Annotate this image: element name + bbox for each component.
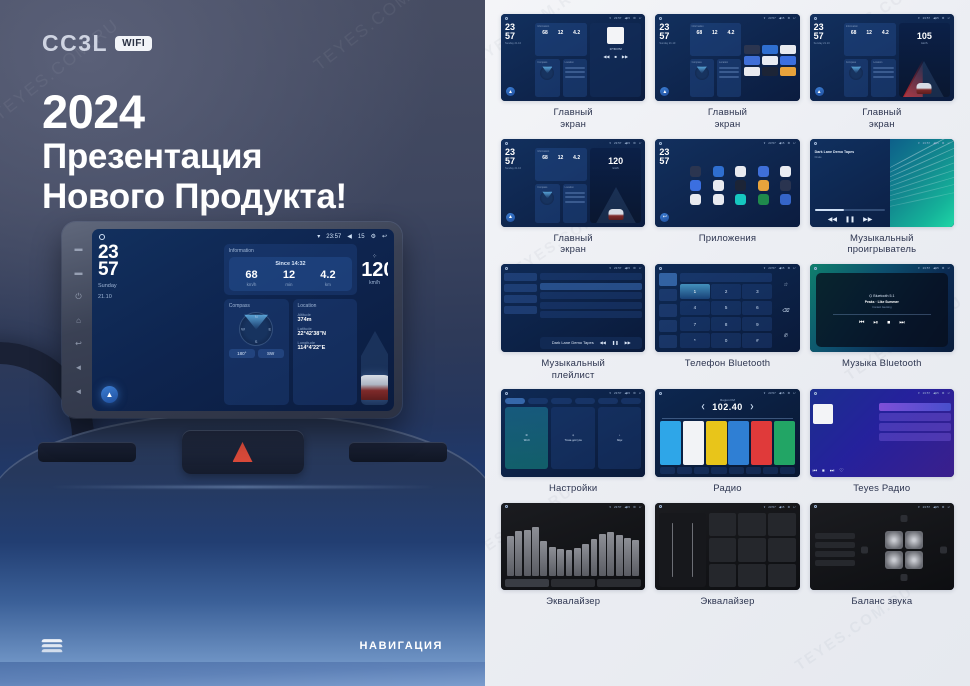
home-button[interactable]: ⌂ [74, 316, 83, 325]
app-tile[interactable] [753, 180, 773, 191]
back-arrow-icon: ↩ [793, 141, 796, 145]
app-icon [735, 166, 746, 177]
toolbar-button[interactable] [711, 467, 726, 474]
toolbar-button[interactable] [729, 467, 744, 474]
dialpad-key[interactable]: 1 [680, 284, 710, 299]
settings-tab[interactable] [505, 398, 525, 404]
screenshot-thumbnail[interactable]: ▾ 23:57 ◀15 ⚙ ↩ ⌬ Bluetooth 5.1 Peaks · … [810, 264, 954, 351]
screenshot-thumbnail[interactable]: ▾ 23:57 ◀15 ⚙ ↩ Region FM ❮ 102.40 ❯ [655, 389, 799, 476]
home-indicator-icon [505, 17, 508, 20]
app-tile[interactable] [753, 194, 773, 205]
mini-stat: 12 [866, 30, 872, 36]
speedometer: ⁘ 120 km/h [361, 244, 388, 286]
mini-location-card[interactable]: Location [717, 59, 741, 97]
balance-option[interactable] [815, 533, 855, 539]
dialpad-key[interactable]: 9 [742, 317, 772, 332]
speaker-grid[interactable] [885, 531, 923, 569]
app-icon[interactable] [780, 56, 796, 65]
app-tile[interactable] [708, 180, 728, 191]
next-icon[interactable]: ⏭ [899, 320, 904, 327]
toolbar-button[interactable] [763, 467, 778, 474]
next-icon[interactable]: ⏭ [830, 468, 835, 474]
station-row[interactable] [879, 423, 951, 431]
balance-options[interactable] [815, 513, 855, 587]
sidebar-icon[interactable] [659, 304, 677, 316]
pause-icon[interactable]: ❚❚ [612, 340, 619, 345]
dialed-number-field[interactable] [680, 273, 772, 282]
balance-pad[interactable] [859, 513, 949, 587]
mini-compass-card[interactable]: Compass [535, 59, 559, 97]
app-icon[interactable] [744, 67, 760, 76]
settings-tab[interactable] [575, 398, 595, 404]
screenshot-cell[interactable]: ▾ 23:57 ◀15 ⚙ ↩ Эквалайзер [655, 503, 799, 608]
dialpad-key[interactable]: 5 [711, 301, 741, 316]
track-list[interactable]: Dark Lane Demo Tapes ◀◀ ❚❚ ▶▶ [540, 273, 642, 348]
screenshot-thumbnail[interactable]: ▾ 23:57 ◀15 ⚙ ↩ 23 57 Sunday 21.10 ▲ Inf… [655, 14, 799, 101]
preset-button[interactable] [709, 564, 737, 587]
screenshot-thumbnail[interactable]: ▾ 23:57 ◀15 ⚙ ↩ [655, 503, 799, 590]
dialpad-key[interactable]: 3 [742, 284, 772, 299]
eq-slider[interactable] [515, 531, 522, 576]
toolbar-button[interactable] [746, 467, 761, 474]
screenshot-thumbnail[interactable]: ▾ 23:57 ◀15 ⚙ ↩ [501, 503, 645, 590]
car-3d-model [361, 375, 388, 400]
screenshot-cell[interactable]: ▾ 23:57 ◀15 ⚙ ↩ ⏮ ⏹ ⏭ ♡ Teyes Радио [810, 389, 954, 494]
compass-direction: SW [258, 349, 284, 358]
gear-icon: ⚙ [942, 141, 945, 145]
app-icon[interactable] [762, 67, 778, 76]
preset-button[interactable] [738, 513, 766, 536]
mini-information-card[interactable]: Information 68124.2 [535, 23, 587, 56]
eq-slider[interactable] [599, 534, 606, 577]
mini-compass-card[interactable]: Compass [844, 59, 868, 97]
app-tile[interactable] [686, 166, 706, 177]
eq-tab[interactable] [551, 579, 595, 587]
screenshot-caption: Главныйэкран [862, 107, 901, 131]
mini-compass-card[interactable]: Compass [690, 59, 714, 97]
mic-button[interactable]: ◄ [74, 387, 83, 396]
sidebar-item[interactable] [504, 306, 537, 314]
screenshot-cell[interactable]: ▾ 23:57 ◀15 ⚙ ↩ 23 57 Sunday 21.10 ▲ Inf… [810, 14, 954, 131]
hazard-lights-icon[interactable] [233, 442, 253, 462]
settings-card[interactable]: ⌘Wi-Fi [505, 407, 548, 468]
preset-button[interactable] [709, 538, 737, 561]
media-controls[interactable]: ◀◀■▶▶ [603, 54, 628, 59]
sidebar-item[interactable] [504, 273, 537, 281]
station-row[interactable] [879, 433, 951, 441]
app-drawer-grid[interactable] [686, 148, 796, 223]
mini-driving-view[interactable]: 120km/h [590, 148, 641, 222]
balance-front-button[interactable] [900, 515, 907, 522]
mini-location-card[interactable]: Location [563, 59, 587, 97]
gear-icon: ⚙ [633, 266, 636, 270]
preset-button[interactable] [768, 564, 796, 587]
prev-icon[interactable]: ◀◀ [603, 54, 609, 59]
mini-stat: 12 [558, 155, 564, 161]
mini-music-panel[interactable]: 07:50 PM ◀◀■▶▶ [590, 23, 641, 97]
gear-icon[interactable]: ⚙ [371, 233, 376, 240]
prev-icon[interactable]: ◀◀ [600, 340, 606, 345]
eq-slider[interactable] [582, 544, 589, 576]
toolbar-button[interactable] [677, 467, 692, 474]
screenshot-cell[interactable]: ▾ 23:57 ◀15 ⚙ ↩ 23 57 Sunday 21.10 ▲ Inf… [655, 14, 799, 131]
app-tile[interactable] [730, 194, 750, 205]
mini-driving-view[interactable]: 105km/h [899, 23, 950, 97]
screenshot-thumbnail[interactable]: ▾ 23:57 ◀15 ⚙ ↩ Dark Lane Demo Tapes Dra… [810, 139, 954, 226]
preset-button[interactable] [709, 513, 737, 536]
volume-icon: ◀15 [779, 505, 785, 509]
stat-distance-unit: km [320, 282, 335, 287]
mini-widgets-column: Information 68124.2 Compass Location [690, 23, 742, 97]
track-row[interactable] [540, 273, 642, 280]
station-preset[interactable] [683, 421, 704, 464]
station-preset[interactable] [751, 421, 772, 464]
navigation-arrow-icon[interactable]: ▲ [506, 213, 515, 222]
toolbar-button[interactable] [660, 467, 675, 474]
mini-widgets-column: Information 68124.2 Compass Location [844, 23, 896, 97]
station-preset[interactable] [660, 421, 681, 464]
fader-group[interactable] [659, 513, 705, 587]
mini-stat: 4.2 [573, 30, 580, 36]
settings-card[interactable]: ⎈Точка доступа [551, 407, 594, 468]
app-tile[interactable] [775, 194, 795, 205]
dialpad-key[interactable]: 7 [680, 317, 710, 332]
app-tile[interactable] [686, 194, 706, 205]
track-row[interactable] [540, 283, 642, 290]
home-indicator-icon [505, 267, 508, 270]
fader[interactable] [692, 523, 694, 576]
location-card[interactable]: Location Altitude 374m Latitude 22°42'38… [293, 299, 358, 405]
track-row[interactable] [540, 302, 642, 309]
preset-button[interactable] [768, 513, 796, 536]
next-station-icon[interactable]: ❯ [750, 404, 754, 410]
screenshot-thumbnail[interactable]: ▾ 23:57 ◀15 ⚙ ↩ 23 57 Sunday 21.10 ▲ Inf… [501, 139, 645, 226]
app-icon [758, 180, 769, 191]
player-controls[interactable]: ◀◀ ❚❚ ▶▶ [815, 216, 886, 223]
settings-icon: ⎈ [572, 434, 574, 437]
settings-tab[interactable] [528, 398, 548, 404]
screenshot-cell[interactable]: ▾ 23:57 ◀15 ⚙ ↩ 23 57 Sunday 21.10 ▲ Inf… [501, 14, 645, 131]
screenshot-grid-panel: TEYES.COM.RUTEYES.COM.RUTEYES.COM.RUTEYE… [485, 0, 970, 686]
fader[interactable] [672, 523, 674, 576]
mini-equalizer-screen[interactable] [501, 503, 645, 590]
eq-slider[interactable] [574, 548, 581, 576]
eq-tab[interactable] [505, 579, 549, 587]
app-icon[interactable] [780, 67, 796, 76]
stop-icon[interactable]: ■ [614, 54, 616, 59]
screenshot-thumbnail[interactable]: ▾ 23:57 ◀15 ⚙ ↩ 23 57 Sunday 21.10 ▲ Inf… [810, 14, 954, 101]
eq-tab[interactable] [597, 579, 641, 587]
sidebar-icon[interactable] [659, 335, 677, 347]
mini-bluetooth-music[interactable]: ⌬ Bluetooth 5.1 Peaks · Like Summer Cont… [810, 264, 954, 351]
gear-icon: ⚙ [942, 266, 945, 270]
mini-status-bar: ▾ 23:57 ◀15 ⚙ ↩ [501, 264, 645, 272]
sidebar-icon[interactable] [659, 320, 677, 332]
back-arrow-icon[interactable]: ↩ [382, 233, 387, 240]
navigation-arrow-icon[interactable]: ▲ [660, 87, 669, 96]
call-icon[interactable]: ✆ [775, 324, 795, 347]
screenshot-thumbnail[interactable]: ▾ 23:57 ◀15 ⚙ ↩ 123456789*0# ☆ ⌫ ✆ [655, 264, 799, 351]
screenshot-thumbnail[interactable]: ▾ 23:57 ◀15 ⚙ ↩ 23 57 Sunday 21.10 ▲ Inf… [501, 14, 645, 101]
screenshot-cell[interactable]: ▾ 23:57 ◀15 ⚙ ↩ Dark Lane Demo Tapes ◀◀ … [501, 264, 645, 381]
settings-tab[interactable] [598, 398, 618, 404]
favorite-icon[interactable]: ☆ [775, 273, 795, 296]
mini-clock-minutes: 57 [659, 32, 686, 41]
prev-icon[interactable]: ⏮ [813, 468, 818, 474]
station-preset[interactable] [728, 421, 749, 464]
app-icon [713, 180, 724, 191]
screenshot-cell[interactable]: ▾ 23:57 ◀15 ⚙ ↩ Dark Lane Demo Tapes Dra… [810, 139, 954, 256]
backspace-icon[interactable]: ⌫ [775, 299, 795, 322]
mini-card-label: Location [873, 61, 893, 64]
balance-option[interactable] [815, 551, 855, 557]
favorite-icon[interactable]: ♡ [839, 468, 843, 474]
dialpad-keys[interactable]: 123456789*0# [680, 284, 772, 347]
preset-buttons[interactable] [709, 513, 796, 587]
mini-dialpad-screen[interactable]: 123456789*0# ☆ ⌫ ✆ [655, 264, 799, 351]
screenshot-cell[interactable]: ▾ 23:57 ◀15 ⚙ ↩ ⌘Wi-Fi⎈Точка доступа♪Зву… [501, 389, 645, 494]
balance-left-button[interactable] [861, 546, 868, 553]
app-tile[interactable] [686, 180, 706, 191]
screenshot-caption: Главныйэкран [554, 233, 593, 257]
settings-tabs[interactable] [505, 398, 641, 404]
settings-card-label: Точка доступа [565, 439, 582, 442]
navigation-label: НАВИГАЦИЯ [360, 640, 443, 652]
hero-line-1: Презентация [42, 137, 347, 177]
station-row[interactable] [879, 403, 951, 411]
eq-slider[interactable] [549, 547, 556, 577]
information-title: Information [229, 248, 352, 254]
dialpad-key[interactable]: 4 [680, 301, 710, 316]
compass-dial-icon [540, 66, 554, 80]
settings-cards[interactable]: ⌘Wi-Fi⎈Точка доступа♪Звук [505, 407, 641, 468]
station-presets[interactable] [658, 421, 796, 464]
information-card[interactable]: Information Since 14:32 68 km/h [224, 244, 357, 295]
app-icon[interactable] [744, 56, 760, 65]
navigation-arrow-icon[interactable]: ▲ [815, 87, 824, 96]
mini-playlist-screen[interactable]: Dark Lane Demo Tapes ◀◀ ❚❚ ▶▶ [501, 264, 645, 351]
mini-compass-card[interactable]: Compass [535, 184, 559, 222]
compass-dial-icon [849, 66, 863, 80]
volume-icon: ◀15 [624, 505, 630, 509]
screenshot-thumbnail[interactable]: ▾ 23:57 ◀15 ⚙ ↩ [810, 503, 954, 590]
mini-apps-screen[interactable]: 23 57 ↩ [655, 139, 799, 226]
pause-icon[interactable]: ❚❚ [845, 216, 855, 223]
app-tile[interactable] [708, 166, 728, 177]
screenshot-cell[interactable]: ▾ 23:57 ◀15 ⚙ ↩ ⌬ Bluetooth 5.1 Peaks · … [810, 264, 954, 381]
mini-music-player[interactable]: Dark Lane Demo Tapes Drake ◀◀ ❚❚ ▶▶ [810, 139, 954, 226]
eq-slider[interactable] [532, 527, 539, 576]
mini-speed-unit: km/h [899, 41, 950, 45]
station-row[interactable] [879, 413, 951, 421]
app-icon[interactable] [762, 45, 778, 54]
screenshot-cell[interactable]: ▾ 23:57 ◀15 ⚙ ↩ 123456789*0# ☆ ⌫ ✆ Телеф… [655, 264, 799, 381]
equalizer-tabs[interactable] [505, 579, 641, 587]
station-preset[interactable] [706, 421, 727, 464]
app-icon [780, 180, 791, 191]
stop-icon[interactable]: ⏹ [822, 468, 825, 474]
playlist-sidebar[interactable] [504, 273, 537, 348]
mini-information-card[interactable]: Information 68124.2 [690, 23, 742, 56]
volume-icon: ◀15 [779, 16, 785, 20]
speaker-icon [905, 531, 923, 549]
wifi-icon: ▾ [918, 266, 920, 270]
home-indicator-icon[interactable] [99, 234, 105, 240]
eq-slider[interactable] [507, 536, 514, 576]
app-tile[interactable] [730, 180, 750, 191]
gear-icon: ⚙ [787, 391, 790, 395]
screenshot-caption: Настройки [549, 483, 597, 495]
sidebar-item[interactable] [504, 295, 537, 303]
toolbar-button[interactable] [780, 467, 795, 474]
balance-rear-button[interactable] [900, 574, 907, 581]
screenshot-cell[interactable]: ▾ 23:57 ◀15 ⚙ ↩ Эквалайзер [501, 503, 645, 608]
mini-radio-screen[interactable]: Region FM ❮ 102.40 ❯ [655, 389, 799, 476]
settings-tab[interactable] [621, 398, 641, 404]
compass-heading: 180° [229, 349, 255, 358]
clock-day: Sunday [98, 282, 118, 290]
dialpad-key[interactable]: 0 [711, 333, 741, 348]
mini-equalizer-presets[interactable] [655, 503, 799, 590]
app-icon[interactable] [744, 45, 760, 54]
balance-right-button[interactable] [940, 546, 947, 553]
phone-actions[interactable]: ☆ ⌫ ✆ [775, 273, 795, 347]
mini-status-bar: ▾ 23:57 ◀15 ⚙ ↩ [655, 264, 799, 272]
play-pause-icon[interactable]: ⏯ [873, 320, 878, 327]
settings-tab[interactable] [551, 398, 571, 404]
head-unit-screen[interactable]: ▾ 23:57 ◀ 15 ⚙ ↩ 23 57 [92, 229, 394, 411]
track-row[interactable] [540, 311, 642, 318]
sidebar-icon[interactable] [659, 273, 677, 285]
mini-location-card[interactable]: Location [871, 59, 895, 97]
balance-option[interactable] [815, 542, 855, 548]
volume-up-button[interactable]: ▬ [74, 268, 83, 277]
station-list[interactable] [879, 398, 951, 473]
eq-slider[interactable] [557, 549, 564, 576]
compass-card[interactable]: Compass N E S W 180° SW [224, 299, 289, 405]
screenshot-thumbnail[interactable]: ▾ 23:57 ◀15 ⚙ ↩ Dark Lane Demo Tapes ◀◀ … [501, 264, 645, 351]
next-icon[interactable]: ▶▶ [625, 340, 631, 345]
frequency-scale[interactable] [662, 414, 792, 419]
prev-icon[interactable]: ◀◀ [828, 216, 837, 223]
screenshot-cell[interactable]: ▾ 23:57 ◀15 ⚙ ↩ Region FM ❮ 102.40 ❯ Рад… [655, 389, 799, 494]
stop-icon[interactable]: ⏹ [887, 320, 890, 327]
progress-bar[interactable] [815, 209, 886, 211]
app-tile[interactable] [730, 166, 750, 177]
station-preset[interactable] [774, 421, 795, 464]
screenshot-thumbnail[interactable]: ▾ 23:57 ◀15 ⚙ ↩ 23 57 ↩ [655, 139, 799, 226]
screenshot-cell[interactable]: ▾ 23:57 ◀15 ⚙ ↩ 23 57 Sunday 21.10 ▲ Inf… [501, 139, 645, 256]
eq-slider[interactable] [632, 540, 639, 576]
app-tile[interactable] [753, 166, 773, 177]
settings-card[interactable]: ♪Звук [598, 407, 641, 468]
player-controls[interactable]: ⏮ ⏹ ⏭ ♡ [813, 468, 877, 474]
eq-slider[interactable] [591, 539, 598, 576]
eq-slider[interactable] [607, 532, 614, 576]
app-tile[interactable] [775, 180, 795, 191]
mini-settings-screen[interactable]: ⌘Wi-Fi⎈Точка доступа♪Звук [501, 389, 645, 476]
mini-balance-screen[interactable] [810, 503, 954, 590]
screenshot-cell[interactable]: ▾ 23:57 ◀15 ⚙ ↩ Баланс звука [810, 503, 954, 608]
dialpad-key[interactable]: 6 [742, 301, 772, 316]
screenshot-thumbnail[interactable]: ▾ 23:57 ◀15 ⚙ ↩ ⌘Wi-Fi⎈Точка доступа♪Зву… [501, 389, 645, 476]
progress-bar[interactable] [833, 314, 932, 315]
mini-stat: 68 [851, 30, 857, 36]
app-icon[interactable] [780, 45, 796, 54]
dialpad-key[interactable]: 8 [711, 317, 741, 332]
sidebar-item[interactable] [504, 284, 537, 292]
volume-down-button[interactable]: ▬ [74, 244, 83, 253]
mini-home-screen[interactable]: 23 57 Sunday 21.10 ▲ Information 68124.2… [655, 14, 799, 101]
prev-icon[interactable]: ⏮ [859, 320, 864, 327]
back-button[interactable]: ↩ [74, 339, 83, 348]
sidebar-icon[interactable] [659, 289, 677, 301]
app-tile[interactable] [708, 194, 728, 205]
eq-slider[interactable] [540, 541, 547, 576]
gear-icon: ⚙ [633, 141, 636, 145]
toolbar-button[interactable] [694, 467, 709, 474]
eq-slider[interactable] [524, 530, 531, 576]
navigation-arrow-icon[interactable]: ▲ [101, 386, 118, 403]
mini-home-screen[interactable]: 23 57 Sunday 21.10 ▲ Information 68124.2… [501, 139, 645, 226]
mini-information-card[interactable]: Information 68124.2 [844, 23, 896, 56]
wifi-icon: ▾ [764, 391, 766, 395]
mini-teyes-radio[interactable]: ⏮ ⏹ ⏭ ♡ [810, 389, 954, 476]
phone-sidebar[interactable] [659, 273, 677, 347]
radio-toolbar[interactable] [658, 467, 796, 474]
mini-home-screen[interactable]: 23 57 Sunday 21.10 ▲ Information 68124.2… [501, 14, 645, 101]
mini-location-card[interactable]: Location [563, 184, 587, 222]
back-arrow-icon[interactable]: ↩ [660, 213, 669, 222]
preset-button[interactable] [738, 538, 766, 561]
navigation-arrow-icon[interactable]: ▲ [506, 87, 515, 96]
mini-home-screen[interactable]: 23 57 Sunday 21.10 ▲ Information 68124.2… [810, 14, 954, 101]
dialpad-key[interactable]: 2 [711, 284, 741, 299]
power-button[interactable]: ⏻ [74, 292, 83, 301]
dialpad-key[interactable]: * [680, 333, 710, 348]
screenshot-cell[interactable]: ▾ 23:57 ◀15 ⚙ ↩ 23 57 ↩ Приложения [655, 139, 799, 256]
preset-button[interactable] [738, 564, 766, 587]
home-indicator-icon [505, 142, 508, 145]
eq-slider[interactable] [566, 550, 573, 576]
balance-option[interactable] [815, 560, 855, 566]
track-row[interactable] [540, 292, 642, 299]
wifi-icon: ▾ [317, 233, 320, 240]
next-icon[interactable]: ▶▶ [863, 216, 872, 223]
next-icon[interactable]: ▶▶ [622, 54, 628, 59]
mini-information-card[interactable]: Information 68124.2 [535, 148, 587, 181]
radio-tuner[interactable]: ❮ 102.40 ❯ [658, 402, 796, 412]
equalizer-bands[interactable] [505, 512, 641, 579]
prev-station-icon[interactable]: ❮ [701, 404, 705, 410]
mini-app-shortcuts[interactable] [744, 23, 795, 97]
dialpad-key[interactable]: # [742, 333, 772, 348]
bt-controls[interactable]: ⏮ ⏯ ⏹ ⏭ [859, 320, 905, 327]
preset-button[interactable] [768, 538, 796, 561]
app-icon[interactable] [762, 56, 778, 65]
app-tile[interactable] [775, 166, 795, 177]
driving-view-panel[interactable]: ⁘ 120 km/h [361, 244, 388, 405]
home-indicator-icon [814, 505, 817, 508]
screenshot-thumbnail[interactable]: ▾ 23:57 ◀15 ⚙ ↩ ⏮ ⏹ ⏭ ♡ [810, 389, 954, 476]
eq-slider[interactable] [624, 538, 631, 577]
gear-icon: ⚙ [787, 505, 790, 509]
gear-icon: ⚙ [787, 141, 790, 145]
eq-slider[interactable] [616, 535, 623, 576]
mini-player-bar[interactable]: Dark Lane Demo Tapes ◀◀ ❚❚ ▶▶ [540, 337, 642, 349]
volume-icon: ◀15 [624, 141, 630, 145]
mute-button[interactable]: ◄ [74, 363, 83, 372]
